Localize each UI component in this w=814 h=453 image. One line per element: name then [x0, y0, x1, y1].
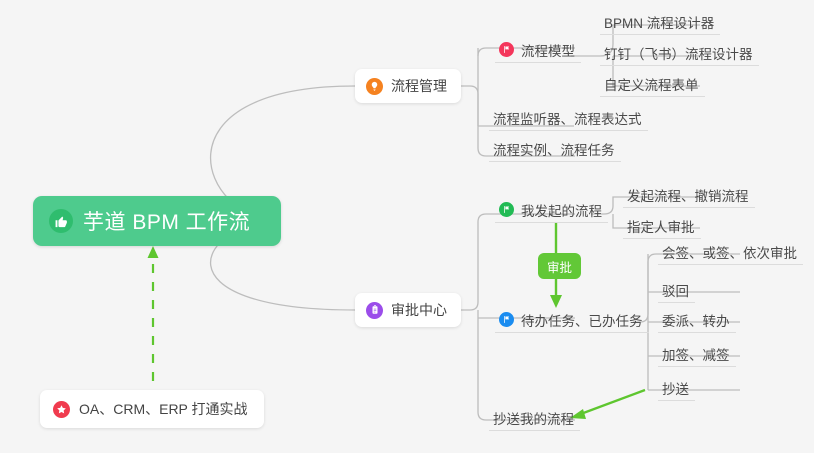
node-bpmn-designer[interactable]: BPMN 流程设计器: [600, 12, 720, 35]
node-label-countersign-or-sequential: 会签、或签、依次审批: [662, 242, 797, 262]
node-label-reject: 驳回: [662, 280, 689, 300]
node-label-process-model: 流程模型: [521, 40, 575, 60]
flag-icon: [499, 42, 514, 57]
dashed-arrow-note-to-root: [148, 246, 159, 399]
node-label-cc: 抄送: [662, 378, 689, 398]
node-countersign-or-sequential[interactable]: 会签、或签、依次审批: [658, 242, 803, 265]
branch-label-approval-center: 审批中心: [391, 300, 447, 320]
node-label-todo-done-tasks: 待办任务、已办任务: [521, 310, 643, 330]
node-label-start-cancel-process: 发起流程、撤销流程: [627, 185, 749, 205]
node-label-add-remove-sign: 加签、减签: [662, 344, 730, 364]
clipboard-icon: [366, 302, 383, 319]
node-label-delegate-transfer: 委派、转办: [662, 310, 730, 330]
mindmap-canvas: 芋道 BPM 工作流 流程管理 流程模型 BPMN 流程设计器 钉钉（飞书）流程…: [0, 0, 814, 453]
node-process-model[interactable]: 流程模型: [495, 40, 581, 63]
root-label: 芋道 BPM 工作流: [83, 206, 250, 236]
node-todo-done-tasks[interactable]: 待办任务、已办任务: [495, 310, 649, 333]
cc-flow-arrow: [570, 390, 645, 419]
node-dingtalk-feishu-designer[interactable]: 钉钉（飞书）流程设计器: [600, 43, 759, 66]
callout-label-approve: 审批: [547, 257, 572, 276]
branch-label-process-management: 流程管理: [391, 76, 447, 96]
note-card-label: OA、CRM、ERP 打通实战: [79, 399, 248, 419]
node-label-cc-to-me: 抄送我的流程: [493, 408, 574, 428]
flag-icon: [499, 202, 514, 217]
node-label-custom-process-form: 自定义流程表单: [604, 74, 699, 94]
note-card[interactable]: OA、CRM、ERP 打通实战: [40, 390, 264, 428]
star-icon: [53, 401, 70, 418]
node-label-dingtalk-feishu-designer: 钉钉（飞书）流程设计器: [604, 43, 753, 63]
node-start-cancel-process[interactable]: 发起流程、撤销流程: [623, 185, 755, 208]
node-listener-expression[interactable]: 流程监听器、流程表达式: [489, 108, 648, 131]
node-label-assignee-approval: 指定人审批: [627, 216, 695, 236]
branch-node-approval-center[interactable]: 审批中心: [355, 293, 461, 327]
node-instance-task[interactable]: 流程实例、流程任务: [489, 139, 621, 162]
node-assignee-approval[interactable]: 指定人审批: [623, 216, 701, 239]
lightbulb-pin-icon: [366, 78, 383, 95]
node-my-started-processes[interactable]: 我发起的流程: [495, 200, 608, 223]
node-label-my-started-processes: 我发起的流程: [521, 200, 602, 220]
node-cc[interactable]: 抄送: [658, 378, 695, 401]
node-custom-process-form[interactable]: 自定义流程表单: [600, 74, 705, 97]
node-label-bpmn-designer: BPMN 流程设计器: [604, 12, 714, 32]
node-delegate-transfer[interactable]: 委派、转办: [658, 310, 736, 333]
node-label-listener-expression: 流程监听器、流程表达式: [493, 108, 642, 128]
callout-approve[interactable]: 审批: [538, 253, 581, 279]
node-reject[interactable]: 驳回: [658, 280, 695, 303]
root-node[interactable]: 芋道 BPM 工作流: [33, 196, 281, 246]
node-label-instance-task: 流程实例、流程任务: [493, 139, 615, 159]
node-cc-to-me[interactable]: 抄送我的流程: [489, 408, 580, 431]
flag-icon: [499, 312, 514, 327]
node-add-remove-sign[interactable]: 加签、减签: [658, 344, 736, 367]
thumbs-up-icon: [49, 209, 73, 233]
branch-node-process-management[interactable]: 流程管理: [355, 69, 461, 103]
